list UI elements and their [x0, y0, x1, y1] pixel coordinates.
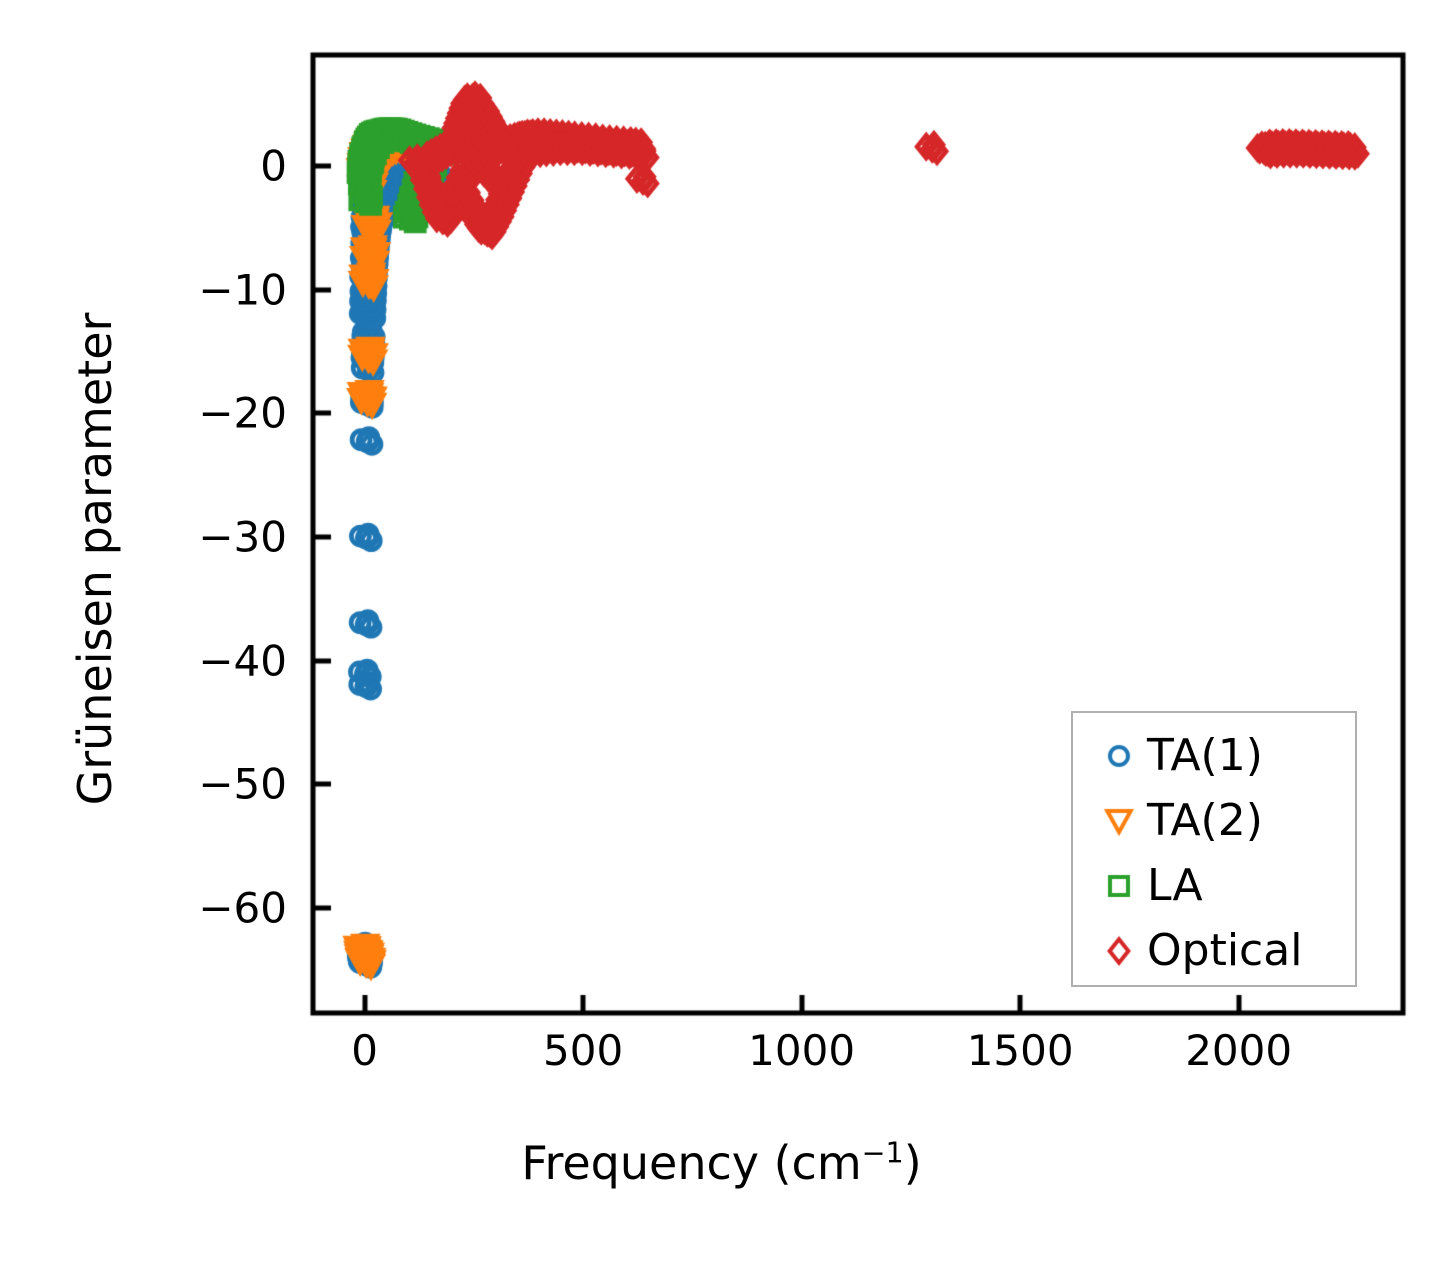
- legend-item-ta1[interactable]: TA(1): [1073, 723, 1355, 788]
- y-tick-label-minus30: −30: [198, 513, 287, 562]
- y-axis-label-wrapper: Grüneisen parameter: [65, 59, 125, 1059]
- legend-label: LA: [1147, 864, 1203, 908]
- y-axis-label: Grüneisen parameter: [68, 313, 122, 806]
- x-axis-label: Frequency (cm−1): [0, 1136, 1443, 1190]
- y-tick-label-0: 0: [260, 142, 287, 191]
- legend-marker-square-icon: [1091, 866, 1147, 906]
- x-tick-label-1500: 1500: [967, 1026, 1074, 1075]
- legend-label: TA(1): [1147, 734, 1263, 778]
- x-tick-label-2000: 2000: [1185, 1026, 1292, 1075]
- legend-marker-diamond-icon: [1091, 931, 1147, 971]
- legend-marker-triangle-down-icon: [1091, 801, 1147, 841]
- x-axis-label-exponent: −1: [862, 1137, 904, 1170]
- legend-marker-circle-icon: [1091, 736, 1147, 776]
- legend-item-optical[interactable]: Optical: [1073, 918, 1355, 983]
- x-tick-label-1000: 1000: [748, 1026, 855, 1075]
- legend-label: Optical: [1147, 929, 1302, 973]
- x-tick-label-500: 500: [543, 1026, 623, 1075]
- figure-container: Frequency (cm−1) Grüneisen parameter 050…: [0, 0, 1443, 1264]
- y-tick-label-minus40: −40: [198, 636, 287, 685]
- y-tick-label-minus10: −10: [198, 265, 287, 314]
- y-tick-label-minus50: −50: [198, 760, 287, 809]
- legend-item-la[interactable]: LA: [1073, 853, 1355, 918]
- x-axis-label-text: Frequency (cm: [521, 1136, 861, 1190]
- x-axis-label-tail: ): [904, 1136, 922, 1190]
- legend-item-ta2[interactable]: TA(2): [1073, 788, 1355, 853]
- legend-box: TA(1)TA(2)LAOptical: [1071, 711, 1357, 987]
- y-tick-label-minus20: −20: [198, 389, 287, 438]
- legend-label: TA(2): [1147, 799, 1263, 843]
- x-tick-label-0: 0: [351, 1026, 378, 1075]
- y-tick-label-minus60: −60: [198, 883, 287, 932]
